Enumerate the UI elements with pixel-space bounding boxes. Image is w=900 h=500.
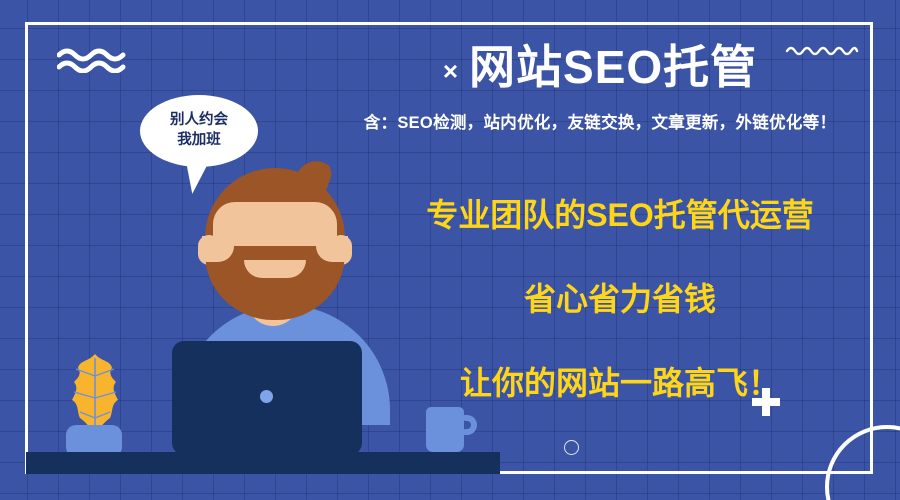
desk-surface [26,452,500,474]
subtitle-text: 含：SEO检测，站内优化，友链交换，文章更新，外链优化等！ [300,109,900,133]
small-circle-outline-icon [564,440,579,455]
mouth [244,260,306,278]
title-text: 网站SEO托管 [469,41,757,93]
slogan-block: 专业团队的SEO托管代运营 省心省力省钱 让你的网站一路高飞！ [370,190,870,404]
title-bullet-icon: × [443,56,459,86]
double-wavy-line-icon [57,47,129,73]
beard-notch-right [316,236,348,262]
speech-bubble-line-1: 别人约会 [170,111,228,131]
speech-bubble-line-2: 我加班 [177,131,221,151]
slogan-line-2: 省心省力省钱 [370,274,870,320]
page-title: ×网站SEO托管 [300,42,900,93]
plant-leaf-icon [68,352,122,434]
headline-block: ×网站SEO托管 含：SEO检测，站内优化，友链交换，文章更新，外链优化等！ [300,42,900,133]
seo-hosting-banner: ×网站SEO托管 含：SEO检测，站内优化，友链交换，文章更新，外链优化等！ 专… [0,0,900,500]
laptop-logo-dot-icon [260,390,273,403]
slogan-line-1: 专业团队的SEO托管代运营 [370,190,870,236]
slogan-line-3: 让你的网站一路高飞！ [370,358,870,404]
